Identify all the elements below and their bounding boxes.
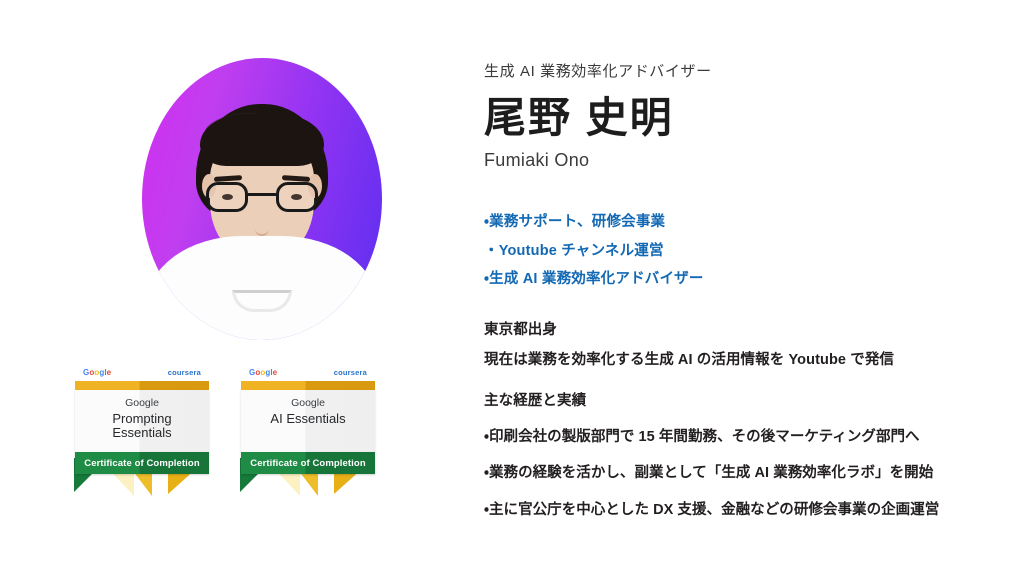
portrait-glasses-icon — [206, 182, 318, 212]
coursera-logo-icon: coursera — [334, 369, 367, 377]
badge-card: Google PromptingEssentials — [75, 390, 209, 452]
badge-top-bar — [241, 381, 375, 390]
badge-title: PromptingEssentials — [75, 412, 209, 442]
profile-eyebrow: 生成 AI 業務効率化アドバイザー — [484, 60, 712, 81]
career-heading: 主な経歴と実績 — [484, 394, 939, 409]
badge-ai-essentials[interactable]: Google coursera Google AI Essentials Cer… — [234, 366, 382, 494]
badge-brand: Google — [75, 398, 209, 410]
badge-prompting-essentials[interactable]: Google coursera Google PromptingEssentia… — [68, 366, 216, 494]
badge-logo-row: Google coursera — [79, 366, 205, 380]
badge-top-bar — [75, 381, 209, 390]
badge-ribbon: Certificate of Completion — [241, 452, 375, 474]
list-item: ・業務の経験を活かし、副業として「生成 AI 業務効率化ラボ」を開始 — [484, 466, 939, 481]
badge-ribbon-label: Certificate of Completion — [84, 458, 199, 469]
badge-logo-row: Google coursera — [245, 366, 371, 380]
badge-ribbon: Certificate of Completion — [75, 452, 209, 474]
portrait-shirt-icon — [146, 236, 378, 340]
google-logo-icon: Google — [83, 369, 111, 377]
career-list: ・印刷会社の製版部門で 15 年間勤務、その後マーケティング部門へ ・業務の経験… — [484, 430, 939, 518]
coursera-logo-icon: coursera — [168, 369, 201, 377]
badge-card: Google AI Essentials — [241, 390, 375, 452]
portrait — [142, 58, 382, 340]
badge-ribbon-zone: Certificate of Completion — [68, 452, 216, 498]
profile-slide: Google coursera Google PromptingEssentia… — [0, 0, 1024, 576]
glasses-lens-left-icon — [206, 182, 248, 212]
left-column: Google coursera Google PromptingEssentia… — [0, 0, 460, 576]
about-line: 現在は業務を効率化する生成 AI の活用情報を Youtube で発信 — [484, 353, 894, 368]
profile-name-romaji: Fumiaki Ono — [484, 150, 589, 171]
list-item: ・Youtube チャンネル運営 — [484, 244, 704, 259]
roles-list: ・業務サポート、研修会事業 ・Youtube チャンネル運営 ・生成 AI 業務… — [484, 215, 704, 301]
about-block: 東京都出身 現在は業務を効率化する生成 AI の活用情報を Youtube で発… — [484, 323, 894, 382]
career-block: 主な経歴と実績 ・印刷会社の製版部門で 15 年間勤務、その後マーケティング部門… — [484, 394, 939, 539]
list-item: ・業務サポート、研修会事業 — [484, 215, 704, 230]
glasses-lens-right-icon — [276, 182, 318, 212]
portrait-nose-icon — [255, 218, 269, 236]
glasses-bridge-icon — [248, 193, 276, 196]
list-item: ・主に官公庁を中心とした DX 支援、金融などの研修会事業の企画運営 — [484, 503, 939, 518]
portrait-photo — [142, 58, 382, 340]
about-line: 東京都出身 — [484, 323, 894, 338]
page-title: 尾野 史明 — [484, 96, 674, 140]
badge-brand: Google — [241, 398, 375, 410]
portrait-fringe-icon — [200, 114, 324, 166]
badge-title: AI Essentials — [241, 412, 375, 427]
google-logo-icon: Google — [249, 369, 277, 377]
certificate-badges: Google coursera Google PromptingEssentia… — [68, 366, 382, 494]
list-item: ・生成 AI 業務効率化アドバイザー — [484, 272, 704, 287]
badge-ribbon-zone: Certificate of Completion — [234, 452, 382, 498]
right-column: 生成 AI 業務効率化アドバイザー 尾野 史明 Fumiaki Ono ・業務サ… — [484, 0, 1024, 576]
list-item: ・印刷会社の製版部門で 15 年間勤務、その後マーケティング部門へ — [484, 430, 939, 445]
badge-ribbon-label: Certificate of Completion — [250, 458, 365, 469]
